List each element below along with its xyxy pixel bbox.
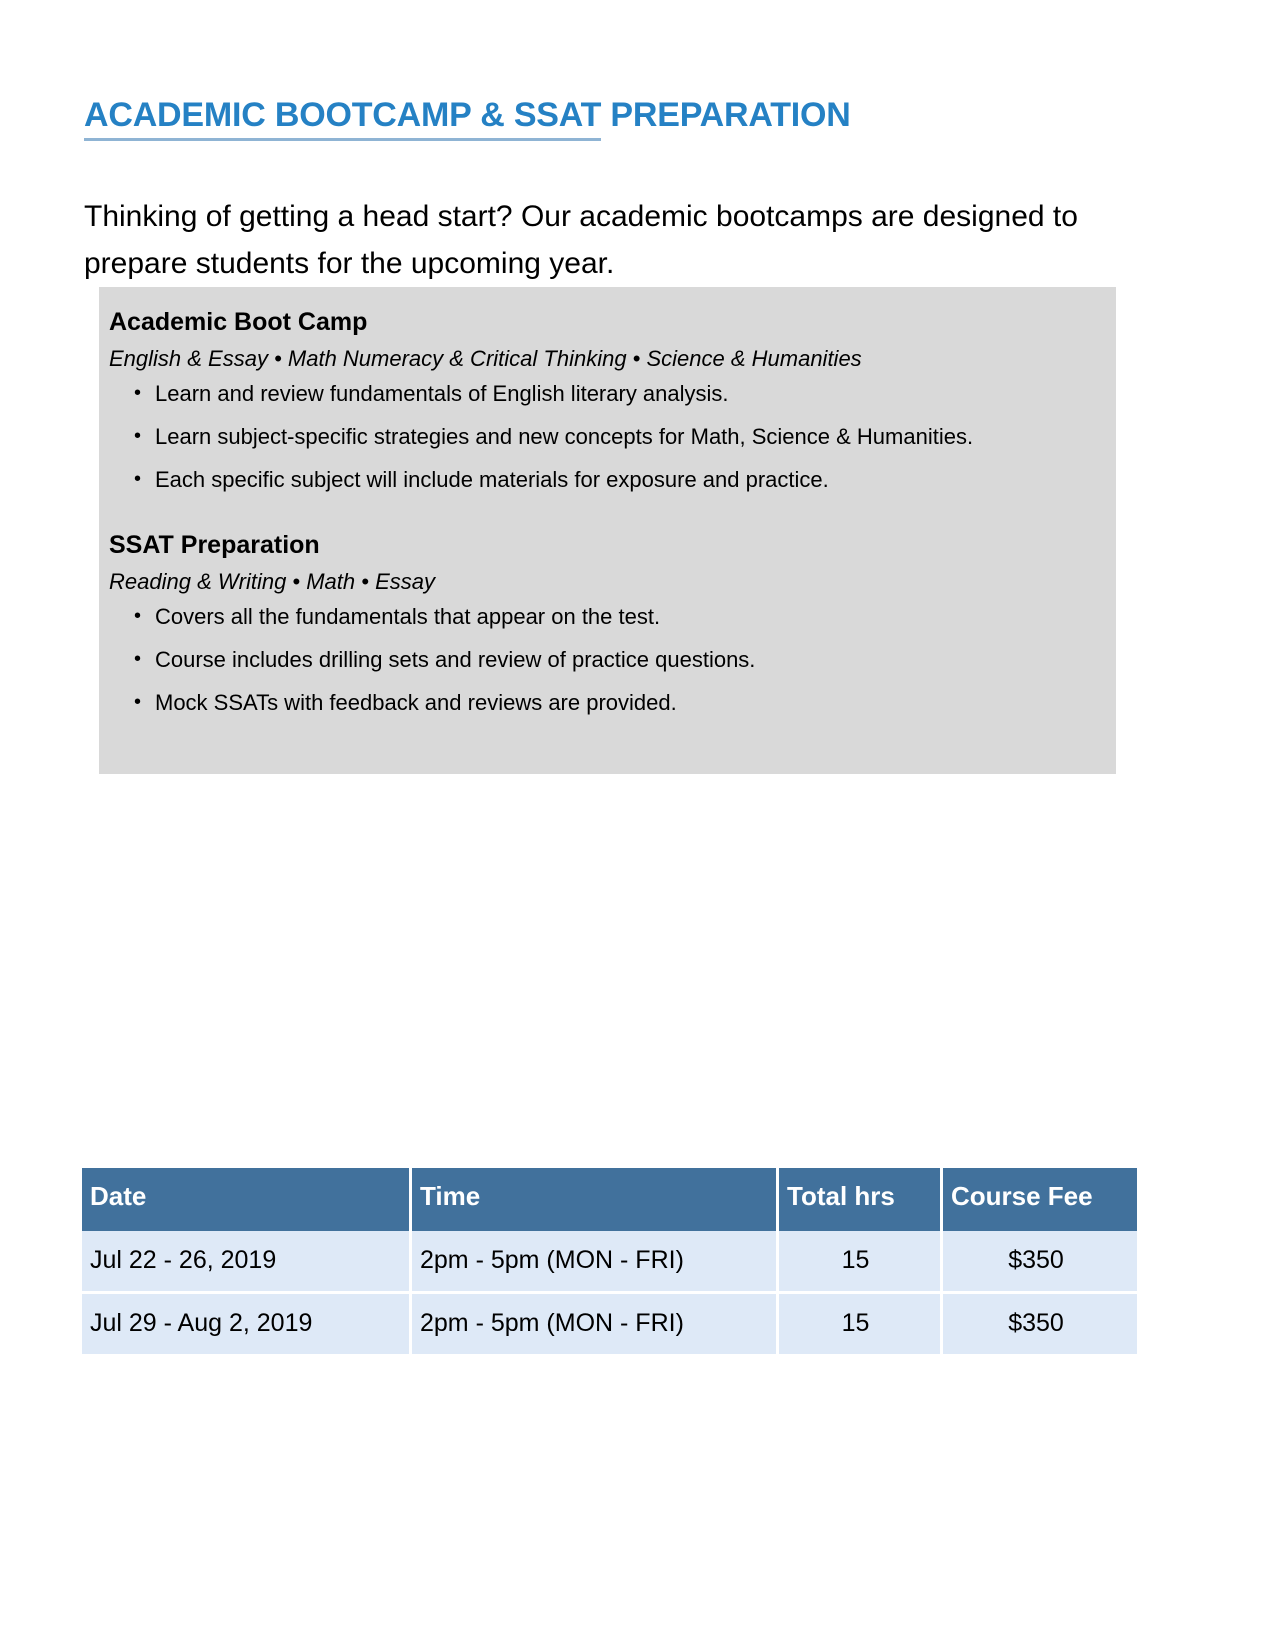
column-header-time: Time (412, 1168, 779, 1231)
section-heading: Academic Boot Camp (109, 305, 1098, 339)
cell-time: 2pm - 5pm (MON - FRI) (412, 1294, 779, 1354)
list-item-text: Each specific subject will include mater… (155, 467, 829, 492)
page-title-wrap: ACADEMIC BOOTCAMP & SSAT PREPARATION (84, 95, 1104, 135)
list-item: • Learn and review fundamentals of Engli… (104, 380, 1098, 408)
list-item: • Each specific subject will include mat… (104, 466, 1098, 494)
section-subheading: Reading & Writing • Math • Essay (109, 566, 1098, 597)
bullet-glyph-icon: • (134, 645, 141, 673)
list-item-text: Mock SSATs with feedback and reviews are… (155, 690, 677, 715)
section-bullet-list: • Learn and review fundamentals of Engli… (104, 380, 1098, 494)
program-details-panel: Academic Boot Camp English & Essay • Mat… (99, 287, 1116, 774)
bullet-glyph-icon: • (134, 422, 141, 450)
panel-inner: Academic Boot Camp English & Essay • Mat… (99, 305, 1116, 717)
table-row: Jul 29 - Aug 2, 2019 2pm - 5pm (MON - FR… (82, 1294, 1137, 1354)
table-row: Jul 22 - 26, 2019 2pm - 5pm (MON - FRI) … (82, 1231, 1137, 1294)
section-subheading: English & Essay • Math Numeracy & Critic… (109, 343, 1098, 374)
cell-total-hrs: 15 (779, 1294, 943, 1354)
section-divider-space (104, 494, 1098, 524)
bullet-glyph-icon: • (134, 379, 141, 407)
section-ssat-preparation: SSAT Preparation Reading & Writing • Mat… (104, 528, 1098, 717)
list-item-text: Course includes drilling sets and review… (155, 647, 755, 672)
list-item: • Covers all the fundamentals that appea… (104, 603, 1098, 631)
intro-paragraph: Thinking of getting a head start? Our ac… (84, 193, 1134, 287)
page-title-remainder: PREPARATION (601, 96, 850, 134)
page-title: ACADEMIC BOOTCAMP & SSAT PREPARATION (84, 95, 851, 135)
cell-date: Jul 29 - Aug 2, 2019 (82, 1294, 412, 1354)
column-header-total-hrs: Total hrs (779, 1168, 943, 1231)
list-item: • Mock SSATs with feedback and reviews a… (104, 689, 1098, 717)
list-item-text: Learn subject-specific strategies and ne… (155, 424, 973, 449)
section-academic-boot-camp: Academic Boot Camp English & Essay • Mat… (104, 305, 1098, 494)
column-header-course-fee: Course Fee (943, 1168, 1137, 1231)
cell-date: Jul 22 - 26, 2019 (82, 1231, 412, 1294)
schedule-table-body: Jul 22 - 26, 2019 2pm - 5pm (MON - FRI) … (82, 1231, 1137, 1354)
section-heading: SSAT Preparation (109, 528, 1098, 562)
bullet-glyph-icon: • (134, 688, 141, 716)
list-item: • Learn subject-specific strategies and … (104, 423, 1098, 451)
cell-total-hrs: 15 (779, 1231, 943, 1294)
bullet-glyph-icon: • (134, 465, 141, 493)
section-bullet-list: • Covers all the fundamentals that appea… (104, 603, 1098, 717)
cell-time: 2pm - 5pm (MON - FRI) (412, 1231, 779, 1294)
schedule-table: Date Time Total hrs Course Fee Jul 22 - … (82, 1168, 1137, 1354)
cell-course-fee: $350 (943, 1231, 1137, 1294)
bullet-glyph-icon: • (134, 602, 141, 630)
schedule-table-head: Date Time Total hrs Course Fee (82, 1168, 1137, 1231)
cell-course-fee: $350 (943, 1294, 1137, 1354)
column-header-date: Date (82, 1168, 412, 1231)
list-item: • Course includes drilling sets and revi… (104, 646, 1098, 674)
list-item-text: Covers all the fundamentals that appear … (155, 604, 660, 629)
document-page: ACADEMIC BOOTCAMP & SSAT PREPARATION Thi… (0, 0, 1275, 1650)
table-header-row: Date Time Total hrs Course Fee (82, 1168, 1137, 1231)
page-title-underlined-part: ACADEMIC BOOTCAMP & SSAT (84, 96, 601, 141)
list-item-text: Learn and review fundamentals of English… (155, 381, 729, 406)
